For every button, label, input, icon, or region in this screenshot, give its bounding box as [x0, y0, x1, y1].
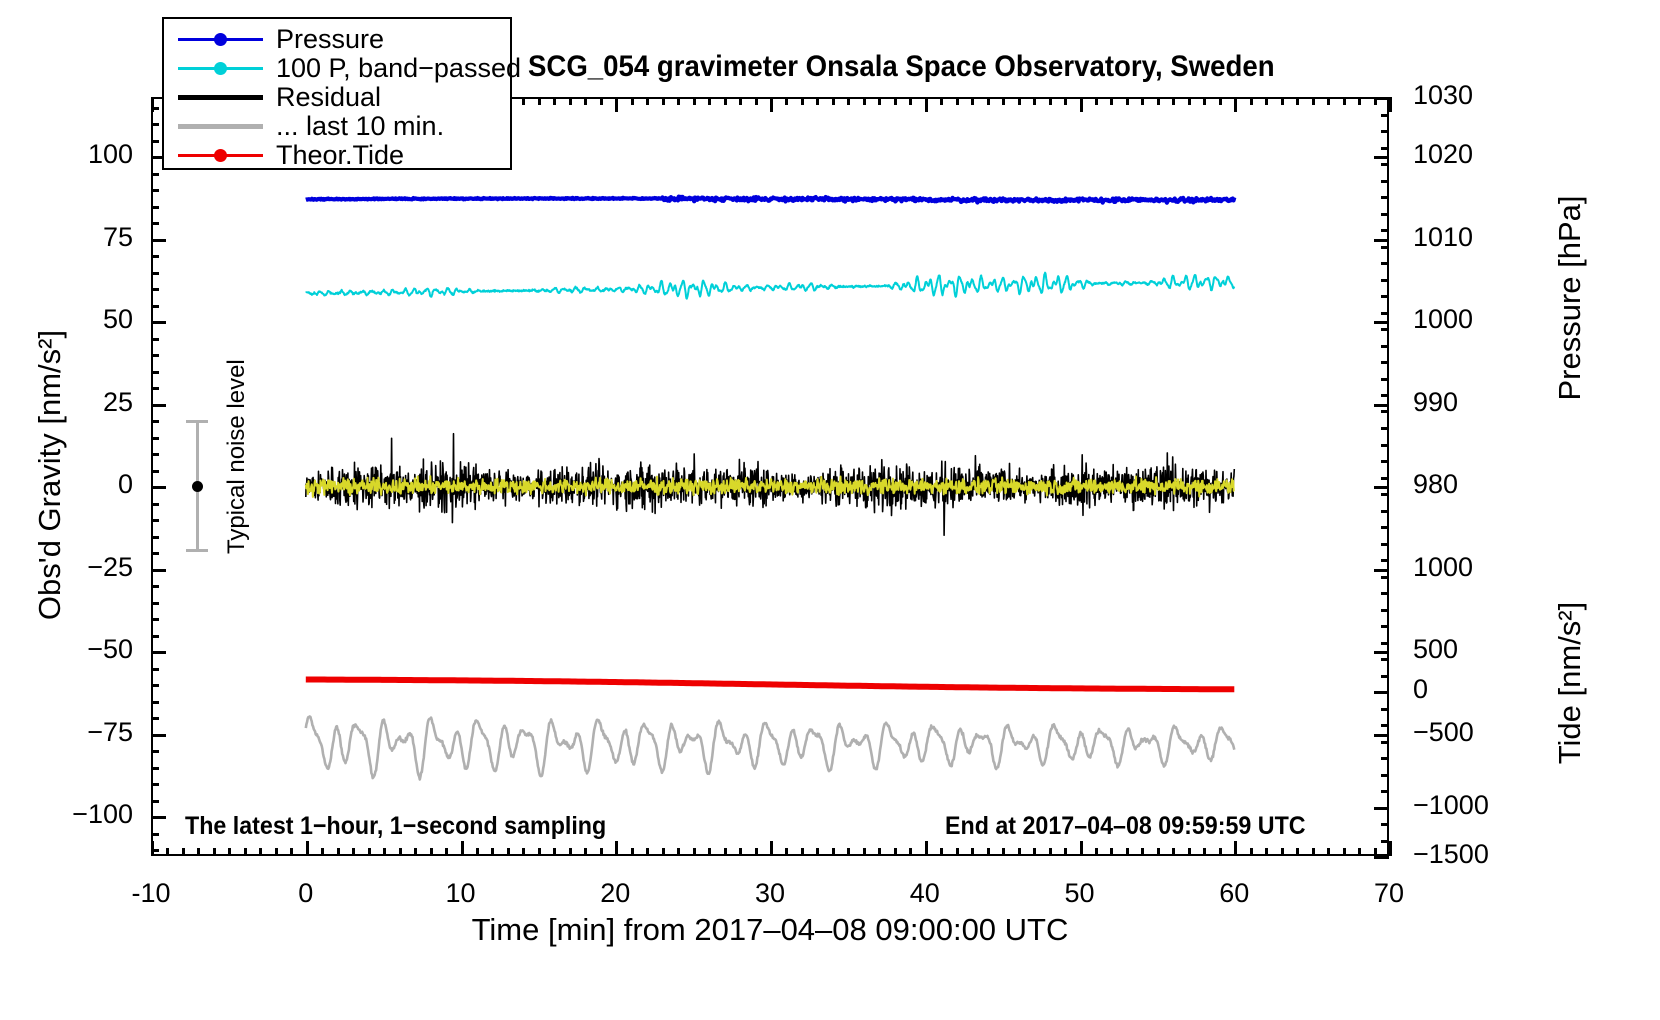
legend-marker-dot — [214, 149, 227, 162]
noise-errorbar-top-cap — [186, 420, 208, 423]
y-right-pressure-tick-label: 980 — [1413, 469, 1458, 500]
x-tick-label: 0 — [298, 878, 313, 909]
x-tick-label: 60 — [1219, 878, 1249, 909]
y-left-tick-label: 75 — [103, 222, 133, 253]
legend-marker-dot — [214, 33, 227, 46]
y-right-tide-tick-label: 1000 — [1413, 552, 1473, 583]
y-axis-left-title: Obs'd Gravity [nm/s²] — [32, 275, 68, 675]
x-tick-label: 30 — [755, 878, 785, 909]
sampling-note: The latest 1−hour, 1−second sampling — [185, 812, 606, 841]
x-tick-label: -10 — [131, 878, 170, 909]
noise-center-dot — [192, 481, 203, 492]
legend-label: Theor.Tide — [276, 141, 404, 169]
legend-label: 100 P, band−passed — [276, 54, 521, 82]
legend-item-1[interactable]: 100 P, band−passed — [164, 54, 510, 82]
legend-label: Residual — [276, 83, 381, 111]
y-right-tide-tick-label: −1000 — [1413, 790, 1489, 821]
series-pressure-bandpassed — [306, 273, 1235, 299]
x-tick-label: 50 — [1064, 878, 1094, 909]
y-right-tide-tick-label: −500 — [1413, 717, 1474, 748]
y-left-tick-label: 25 — [103, 387, 133, 418]
x-tick-label: 10 — [445, 878, 475, 909]
x-tick-label: 20 — [600, 878, 630, 909]
legend-item-2[interactable]: Residual — [164, 83, 510, 111]
typical-noise-level-annotation: Typical noise level — [0, 0, 1, 1]
y-left-tick-label: 50 — [103, 304, 133, 335]
legend-item-4[interactable]: Theor.Tide — [164, 141, 510, 169]
y-right-pressure-tick-label: 1010 — [1413, 222, 1473, 253]
y-right-pressure-tick-label: 990 — [1413, 387, 1458, 418]
y-left-tick-label: −100 — [72, 799, 133, 830]
legend-line-swatch — [178, 124, 263, 129]
y-left-tick-label: 0 — [118, 469, 133, 500]
y-right-tide-tick-label: −1500 — [1413, 839, 1489, 870]
y-right-tide-tick-label: 500 — [1413, 634, 1458, 665]
y-left-tick-label: −75 — [87, 717, 133, 748]
y-right-pressure-tick-label: 1000 — [1413, 304, 1473, 335]
noise-level-label: Typical noise level — [223, 360, 251, 555]
legend-item-0[interactable]: Pressure — [164, 25, 510, 53]
x-axis-title: Time [min] from 2017–04–08 09:00:00 UTC — [0, 912, 1540, 948]
x-tick-label: 70 — [1374, 878, 1404, 909]
chart-canvas: SCG_054 gravimeter Onsala Space Observat… — [0, 0, 1660, 1020]
legend-label: ... last 10 min. — [276, 112, 444, 140]
y-right-tide-tick-label: 0 — [1413, 674, 1428, 705]
y-right-pressure-tick-label: 1030 — [1413, 80, 1473, 111]
page-title: SCG_054 gravimeter Onsala Space Observat… — [528, 50, 1275, 84]
noise-errorbar-bottom-cap — [186, 549, 208, 552]
y-left-tick-label: −25 — [87, 552, 133, 583]
legend-marker-dot — [214, 62, 227, 75]
series-pressure — [306, 197, 1235, 203]
legend[interactable]: Pressure100 P, band−passedResidual... la… — [162, 17, 512, 170]
y-left-tick-label: −50 — [87, 634, 133, 665]
end-time-note: End at 2017–04–08 09:59:59 UTC — [945, 812, 1306, 841]
y-axis-right-pressure-title: Pressure [hPa] — [1552, 148, 1588, 448]
x-tick-label: 40 — [910, 878, 940, 909]
legend-label: Pressure — [276, 25, 384, 53]
series-last10min-lower — [306, 717, 1235, 780]
y-right-pressure-tick-label: 1020 — [1413, 139, 1473, 170]
y-left-tick-label: 100 — [88, 139, 133, 170]
series-theoretical-tide — [306, 680, 1235, 690]
y-axis-right-tide-title: Tide [nm/s²] — [1552, 568, 1588, 798]
legend-line-swatch — [178, 95, 263, 100]
legend-item-3[interactable]: ... last 10 min. — [164, 112, 510, 140]
